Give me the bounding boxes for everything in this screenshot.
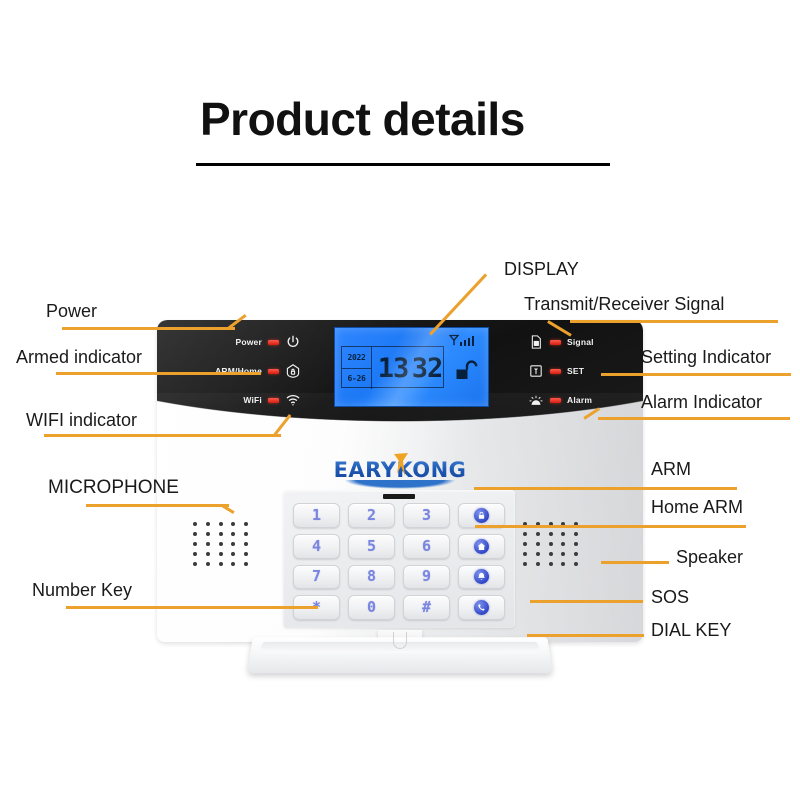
key-dial[interactable] <box>458 595 505 620</box>
leader-microphone <box>86 504 229 507</box>
indicator-label: SET <box>567 366 584 376</box>
key-2[interactable]: 2 <box>348 503 395 528</box>
callout-arm: ARM <box>651 460 691 478</box>
callout-setting-indicator: Setting Indicator <box>641 348 771 366</box>
title-divider <box>196 163 610 166</box>
callout-transmit-receiver: Transmit/Receiver Signal <box>524 295 724 313</box>
key-8[interactable]: 8 <box>348 565 395 590</box>
led-arm-home <box>268 369 279 374</box>
callout-sos: SOS <box>651 588 689 606</box>
callout-power: Power <box>46 302 97 320</box>
indicator-signal: Signal <box>528 334 624 350</box>
brand-mark-icon <box>391 452 411 478</box>
indicator-label: Signal <box>567 337 594 347</box>
indicator-label: WiFi <box>243 395 262 405</box>
indicator-alarm: Alarm <box>528 392 624 408</box>
product-details-page: Product details Power ARM/Home <box>0 0 800 800</box>
leader-arm <box>474 487 737 490</box>
led-signal <box>550 340 561 345</box>
indicator-power: Power <box>193 334 301 350</box>
sim-card-icon <box>528 334 544 350</box>
indicator-wifi: WiFi <box>193 392 301 408</box>
keypad-slot <box>383 494 415 499</box>
wifi-icon <box>285 392 301 408</box>
key-6[interactable]: 6 <box>403 534 450 559</box>
callout-dial-key: DIAL KEY <box>651 621 731 639</box>
leader-speaker <box>601 561 669 564</box>
indicator-label: ARM/Home <box>215 366 262 376</box>
callout-armed-indicator: Armed indicator <box>16 348 142 366</box>
led-wifi <box>268 398 279 403</box>
alarm-panel-device: Power ARM/Home <box>145 300 655 700</box>
key-7[interactable]: 7 <box>293 565 340 590</box>
callout-number-key: Number Key <box>32 581 132 599</box>
led-alarm <box>550 398 561 403</box>
stand-notch <box>393 632 407 649</box>
callout-alarm-indicator: Alarm Indicator <box>641 393 762 411</box>
key-home-arm[interactable] <box>458 534 505 559</box>
indicator-label: Alarm <box>567 395 592 405</box>
leader-transmit <box>570 320 778 323</box>
siren-icon <box>528 392 544 408</box>
key-0[interactable]: 0 <box>348 595 395 620</box>
brand-logo: EARYKONG <box>145 458 655 483</box>
leader-armed-indicator <box>56 372 261 375</box>
key-9[interactable]: 9 <box>403 565 450 590</box>
callout-display: DISPLAY <box>504 260 579 278</box>
microphone-grille <box>193 522 251 566</box>
indicator-arm-home: ARM/Home <box>193 363 301 379</box>
lock-icon <box>474 508 489 523</box>
power-icon <box>285 334 301 350</box>
led-set <box>550 369 561 374</box>
brand-swoosh <box>344 480 456 489</box>
speaker-grille <box>523 522 581 566</box>
page-title: Product details <box>200 92 525 146</box>
home-icon <box>474 539 489 554</box>
callout-microphone: MICROPHONE <box>48 478 179 497</box>
leader-home-arm <box>475 525 746 528</box>
key-hash[interactable]: # <box>403 595 450 620</box>
led-power <box>268 340 279 345</box>
sos-bell-icon <box>474 569 489 584</box>
lcd-display: 2022 6-26 13 32 <box>334 327 489 407</box>
key-3[interactable]: 3 <box>403 503 450 528</box>
key-5[interactable]: 5 <box>348 534 395 559</box>
leader-alarm <box>598 417 790 420</box>
leader-sos <box>530 600 643 603</box>
key-1[interactable]: 1 <box>293 503 340 528</box>
right-indicator-group: Signal SET <box>528 334 624 408</box>
key-sos[interactable] <box>458 565 505 590</box>
lcd-glare <box>334 327 489 407</box>
phone-dial-icon <box>474 600 489 615</box>
leader-setting <box>601 373 791 376</box>
leader-power <box>62 327 235 330</box>
callout-wifi-indicator: WIFI indicator <box>26 411 137 429</box>
indicator-label: Power <box>235 337 262 347</box>
callout-home-arm: Home ARM <box>651 498 743 516</box>
indicator-set: SET <box>528 363 624 379</box>
leader-wifi <box>44 434 281 437</box>
wrench-icon <box>528 363 544 379</box>
home-shield-icon <box>285 363 301 379</box>
key-4[interactable]: 4 <box>293 534 340 559</box>
callout-speaker: Speaker <box>676 548 743 566</box>
leader-dial-key <box>527 634 644 637</box>
left-indicator-group: Power ARM/Home <box>193 334 301 408</box>
leader-number-key <box>66 606 318 609</box>
